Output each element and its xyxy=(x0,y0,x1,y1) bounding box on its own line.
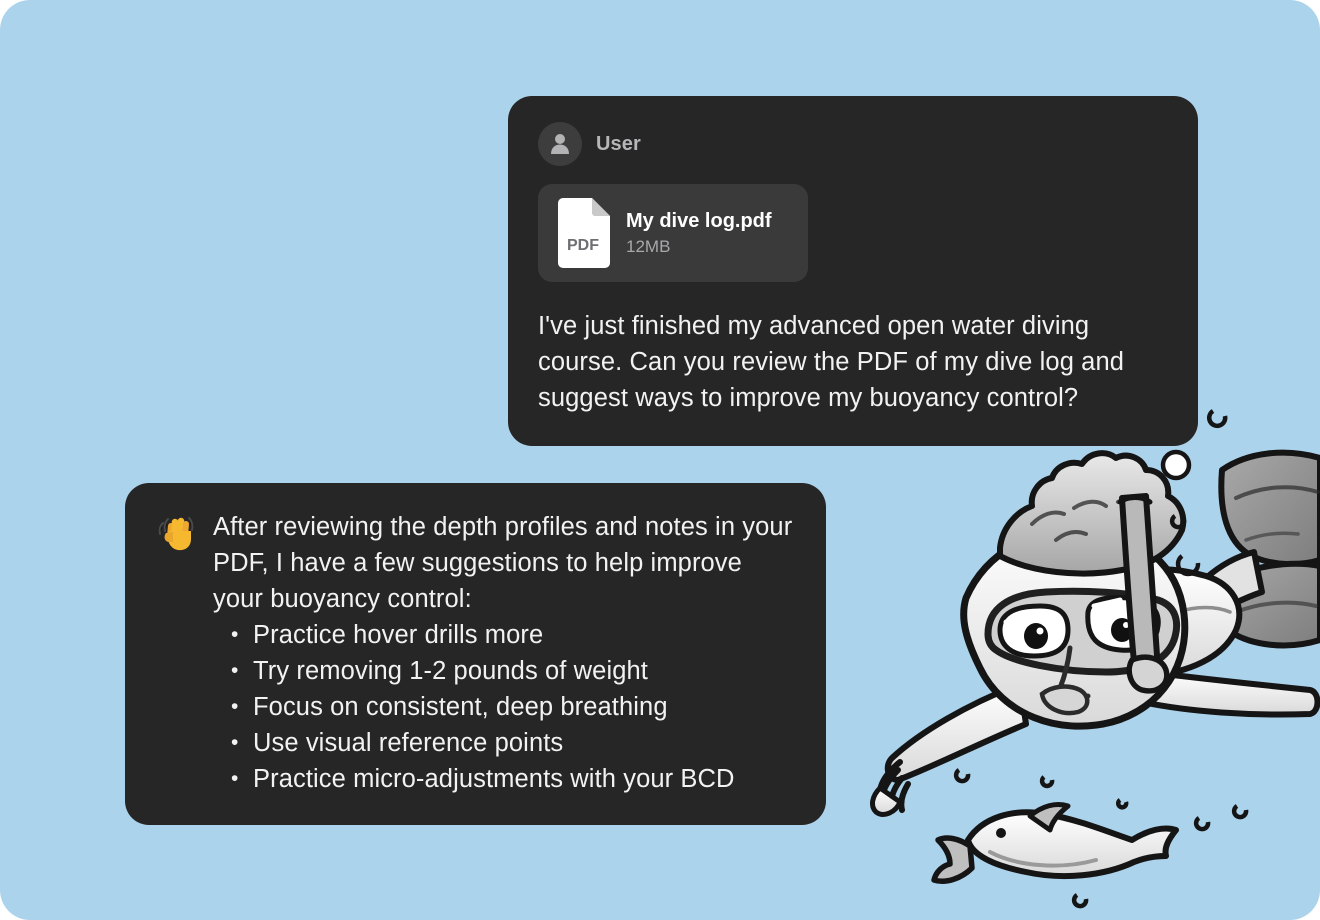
user-message-text: I've just finished my advanced open wate… xyxy=(538,308,1168,416)
app-canvas: User PDF My dive log.pdf 12MB I've just … xyxy=(0,0,1320,920)
message-author-name: User xyxy=(596,133,641,156)
waving-hand-emoji xyxy=(155,511,199,555)
list-item: Practice micro-adjustments with your BCD xyxy=(253,761,796,797)
pdf-file-meta: My dive log.pdf 12MB xyxy=(626,210,772,257)
pdf-file-size: 12MB xyxy=(626,237,772,257)
pdf-attachment-card[interactable]: PDF My dive log.pdf 12MB xyxy=(538,184,808,282)
diver-figure xyxy=(873,453,1320,815)
fish xyxy=(934,804,1176,881)
list-item: Focus on consistent, deep breathing xyxy=(253,689,796,725)
air-bubbles xyxy=(956,390,1246,906)
assistant-intro-text: After reviewing the depth profiles and n… xyxy=(213,509,796,617)
pdf-file-name: My dive log.pdf xyxy=(626,210,772,233)
suggestion-list: Practice hover drills more Try removing … xyxy=(213,617,796,797)
assistant-message-bubble: After reviewing the depth profiles and n… xyxy=(125,483,826,825)
list-item: Try removing 1-2 pounds of weight xyxy=(253,653,796,689)
person-avatar-icon xyxy=(538,122,582,166)
list-item: Practice hover drills more xyxy=(253,617,796,653)
pdf-file-icon: PDF xyxy=(554,198,610,268)
user-message-bubble: User PDF My dive log.pdf 12MB I've just … xyxy=(508,96,1198,446)
svg-text:PDF: PDF xyxy=(567,237,599,254)
user-header: User xyxy=(538,122,1168,166)
list-item: Use visual reference points xyxy=(253,725,796,761)
